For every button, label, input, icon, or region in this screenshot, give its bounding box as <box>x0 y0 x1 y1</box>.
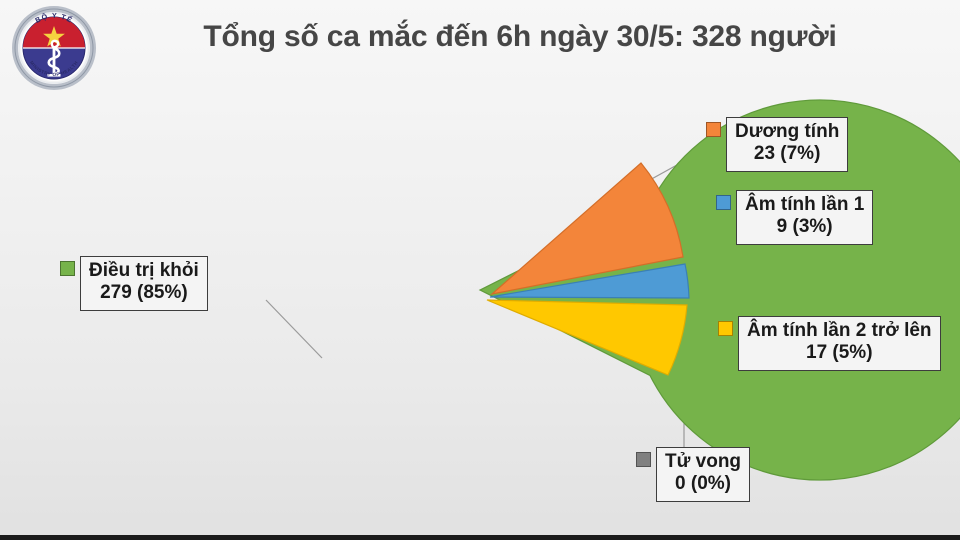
pie-slice-neg2 <box>487 300 687 375</box>
swatch-positive <box>706 122 721 137</box>
label-neg1-value: 9 (3%) <box>745 216 864 238</box>
label-box-death: Tử vong 0 (0%) <box>656 447 750 502</box>
label-death-name: Tử vong <box>665 451 741 472</box>
swatch-neg2 <box>718 321 733 336</box>
callout-recovered[interactable]: Điều trị khỏi 279 (85%) <box>60 256 208 311</box>
slide-canvas: BỘ Y TẾ MINISTRY OF HEALTH Tổng số ca mắ… <box>0 0 960 540</box>
swatch-recovered <box>60 261 75 276</box>
label-positive-value: 23 (7%) <box>735 143 839 165</box>
label-death-value: 0 (0%) <box>665 473 741 495</box>
label-recovered-name: Điều trị khỏi <box>89 260 199 281</box>
label-recovered-value: 279 (85%) <box>89 282 199 304</box>
label-box-neg2: Âm tính lần 2 trở lên 17 (5%) <box>738 316 941 371</box>
callout-positive[interactable]: Dương tính 23 (7%) <box>706 117 848 172</box>
label-positive-name: Dương tính <box>735 121 839 142</box>
swatch-death <box>636 452 651 467</box>
swatch-neg1 <box>716 195 731 210</box>
label-neg1-name: Âm tính lần 1 <box>745 194 864 215</box>
callout-neg2[interactable]: Âm tính lần 2 trở lên 17 (5%) <box>718 316 941 371</box>
label-box-positive: Dương tính 23 (7%) <box>726 117 848 172</box>
label-box-neg1: Âm tính lần 1 9 (3%) <box>736 190 873 245</box>
leader-line-recovered <box>266 300 322 358</box>
label-neg2-value: 17 (5%) <box>747 342 932 364</box>
label-neg2-name: Âm tính lần 2 trở lên <box>747 320 932 341</box>
callout-neg1[interactable]: Âm tính lần 1 9 (3%) <box>716 190 873 245</box>
callout-death[interactable]: Tử vong 0 (0%) <box>636 447 750 502</box>
bottom-edge-bar <box>0 535 960 540</box>
label-box-recovered: Điều trị khỏi 279 (85%) <box>80 256 208 311</box>
